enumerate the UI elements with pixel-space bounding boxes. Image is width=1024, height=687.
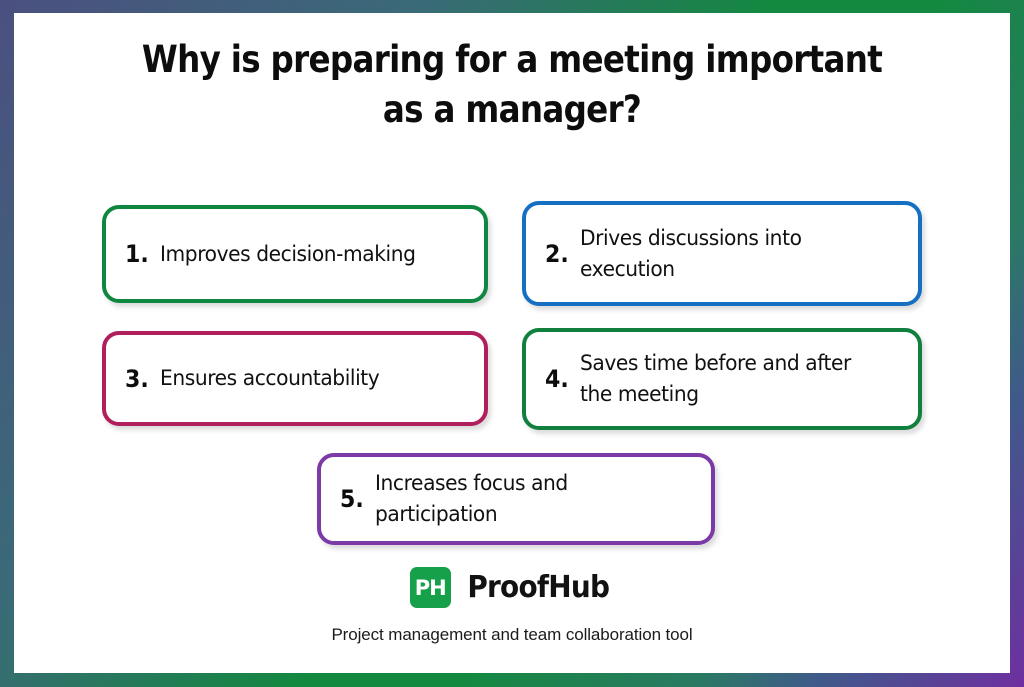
- reason-card-4-number: 4.: [545, 365, 569, 393]
- reason-card-2-number: 2.: [545, 240, 569, 268]
- reason-card-1-text: Improves decision-making: [160, 239, 416, 270]
- infographic-sheet: Why is preparing for a meeting important…: [14, 13, 1010, 673]
- reason-card-4: 4. Saves time before and after the meeti…: [522, 328, 922, 430]
- reason-card-1: 1. Improves decision-making: [102, 205, 488, 303]
- reason-card-2-text: Drives discussions into execution: [580, 223, 885, 285]
- brand-name: ProofHub: [467, 570, 609, 605]
- brand-lockup: PH ProofHub: [14, 567, 1010, 608]
- page-title-line-2: as a manager?: [127, 85, 898, 135]
- page-title: Why is preparing for a meeting important…: [127, 35, 898, 135]
- page-title-line-1: Why is preparing for a meeting important: [127, 35, 898, 85]
- reason-card-5-text: Increases focus and participation: [375, 468, 678, 530]
- reason-card-5: 5. Increases focus and participation: [317, 453, 715, 545]
- reason-card-4-text: Saves time before and after the meeting: [580, 348, 885, 410]
- reason-card-2: 2. Drives discussions into execution: [522, 201, 922, 306]
- reason-card-3: 3. Ensures accountability: [102, 331, 488, 426]
- proofhub-logo-icon: PH: [410, 567, 451, 608]
- reason-card-5-number: 5.: [340, 485, 364, 513]
- reason-card-3-number: 3.: [125, 365, 149, 393]
- reason-card-3-text: Ensures accountability: [160, 363, 379, 394]
- reason-card-1-number: 1.: [125, 240, 149, 268]
- brand-tagline: Project management and team collaboratio…: [14, 625, 1010, 645]
- infographic-canvas: Why is preparing for a meeting important…: [0, 0, 1024, 687]
